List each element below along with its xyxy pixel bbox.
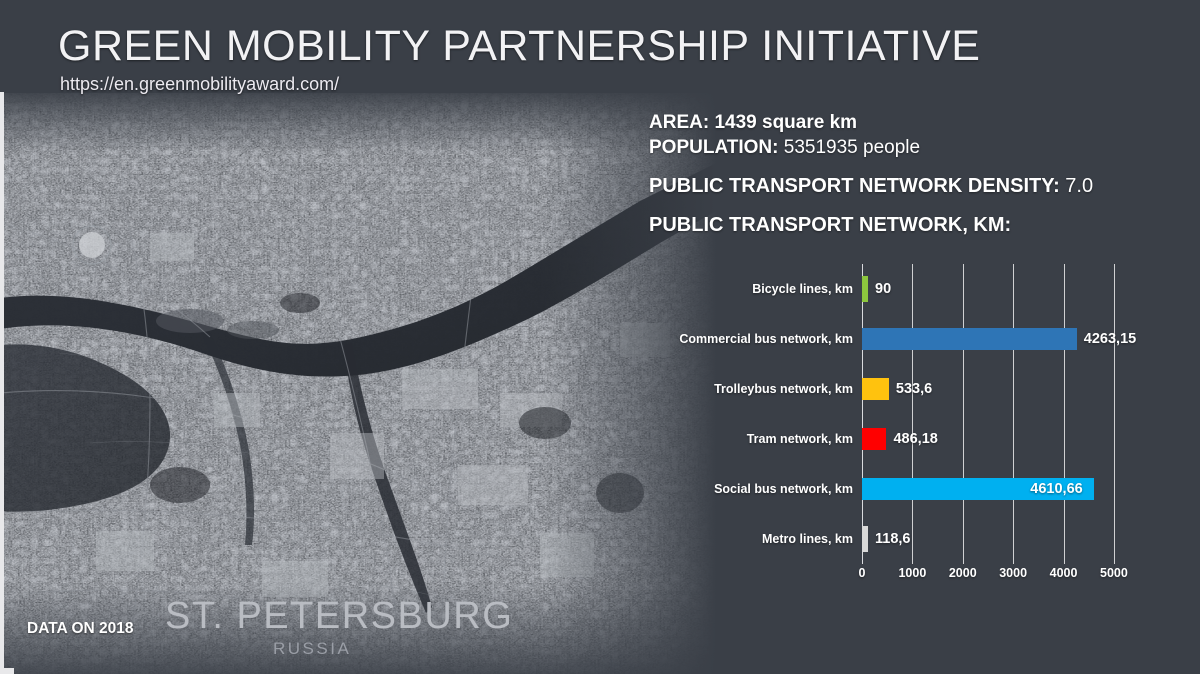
- map-right-fade: [0, 93, 716, 674]
- chart-bar-value-label: 486,18: [893, 431, 937, 447]
- chart-bar-row[interactable]: Tram network, km486,18: [862, 414, 1200, 464]
- chart-category-label: Social bus network, km: [623, 482, 853, 496]
- chart-bar[interactable]: [862, 276, 868, 302]
- chart-category-label: Tram network, km: [623, 432, 853, 446]
- slide-left-border: [0, 92, 4, 674]
- city-name: ST. PETERSBURG: [165, 595, 513, 638]
- stat-area-value: 1439 square km: [714, 112, 857, 133]
- chart-bar-value-label: 118,6: [875, 531, 911, 547]
- chart-heading-label: PUBLIC TRANSPORT NETWORK, KM:: [649, 214, 1011, 236]
- slide-bottom-border: [0, 668, 14, 674]
- chart-bar-value-label: 533,6: [896, 381, 932, 397]
- chart-category-label: Metro lines, km: [623, 532, 853, 546]
- website-url[interactable]: https://en.greenmobilityaward.com/: [60, 74, 339, 95]
- x-axis-tick-label: 0: [859, 566, 866, 580]
- chart-x-axis: 010002000300040005000: [862, 566, 1124, 590]
- stat-network-density: PUBLIC TRANSPORT NETWORK DENSITY: 7.0: [649, 173, 1093, 199]
- stat-density-label: PUBLIC TRANSPORT NETWORK DENSITY:: [649, 175, 1060, 197]
- chart-category-label: Bicycle lines, km: [623, 282, 853, 296]
- chart-bar-value-label: 4610,66: [1030, 481, 1082, 497]
- stat-area-label: AREA:: [649, 112, 709, 133]
- satellite-map-image: [0, 93, 716, 674]
- data-year-label: DATA ON 2018: [27, 620, 134, 638]
- page-title: GREEN MOBILITY PARTNERSHIP INITIATIVE: [58, 22, 981, 71]
- stat-population-value: 5351935 people: [784, 137, 920, 158]
- chart-heading: PUBLIC TRANSPORT NETWORK, KM:: [649, 212, 1093, 238]
- x-axis-tick-label: 3000: [999, 566, 1027, 580]
- stat-density-value: 7.0: [1065, 175, 1093, 197]
- x-axis-tick-label: 1000: [898, 566, 926, 580]
- city-statistics: AREA: 1439 square km POPULATION: 5351935…: [649, 110, 1093, 238]
- stat-area: AREA: 1439 square km: [649, 110, 1093, 135]
- chart-bar-value-label: 90: [875, 281, 891, 297]
- chart-category-label: Commercial bus network, km: [623, 332, 853, 346]
- chart-bar-row[interactable]: Trolleybus network, km533,6: [862, 364, 1200, 414]
- x-axis-tick-label: 5000: [1100, 566, 1128, 580]
- chart-bar[interactable]: [862, 428, 886, 450]
- chart-category-label: Trolleybus network, km: [623, 382, 853, 396]
- chart-bar-rows: Bicycle lines, km90Commercial bus networ…: [862, 264, 1124, 564]
- chart-bar-row[interactable]: Bicycle lines, km90: [862, 264, 1200, 314]
- chart-bar-row[interactable]: Commercial bus network, km4263,15: [862, 314, 1200, 364]
- chart-bar-value-label: 4263,15: [1084, 331, 1136, 347]
- presentation-slide: GREEN MOBILITY PARTNERSHIP INITIATIVE ht…: [0, 0, 1200, 674]
- x-axis-tick-label: 4000: [1050, 566, 1078, 580]
- chart-bar-row[interactable]: Metro lines, km118,6: [862, 514, 1200, 564]
- stat-population: POPULATION: 5351935 people: [649, 135, 1093, 160]
- country-name: RUSSIA: [273, 639, 351, 659]
- chart-bar[interactable]: [862, 328, 1077, 350]
- chart-bar[interactable]: [862, 526, 868, 552]
- x-axis-tick-label: 2000: [949, 566, 977, 580]
- chart-bar-row[interactable]: Social bus network, km4610,66: [862, 464, 1200, 514]
- stat-population-label: POPULATION:: [649, 137, 778, 158]
- chart-plot-area: Bicycle lines, km90Commercial bus networ…: [862, 264, 1124, 564]
- chart-bar[interactable]: [862, 378, 889, 400]
- public-transport-bar-chart: Bicycle lines, km90Commercial bus networ…: [700, 258, 1180, 588]
